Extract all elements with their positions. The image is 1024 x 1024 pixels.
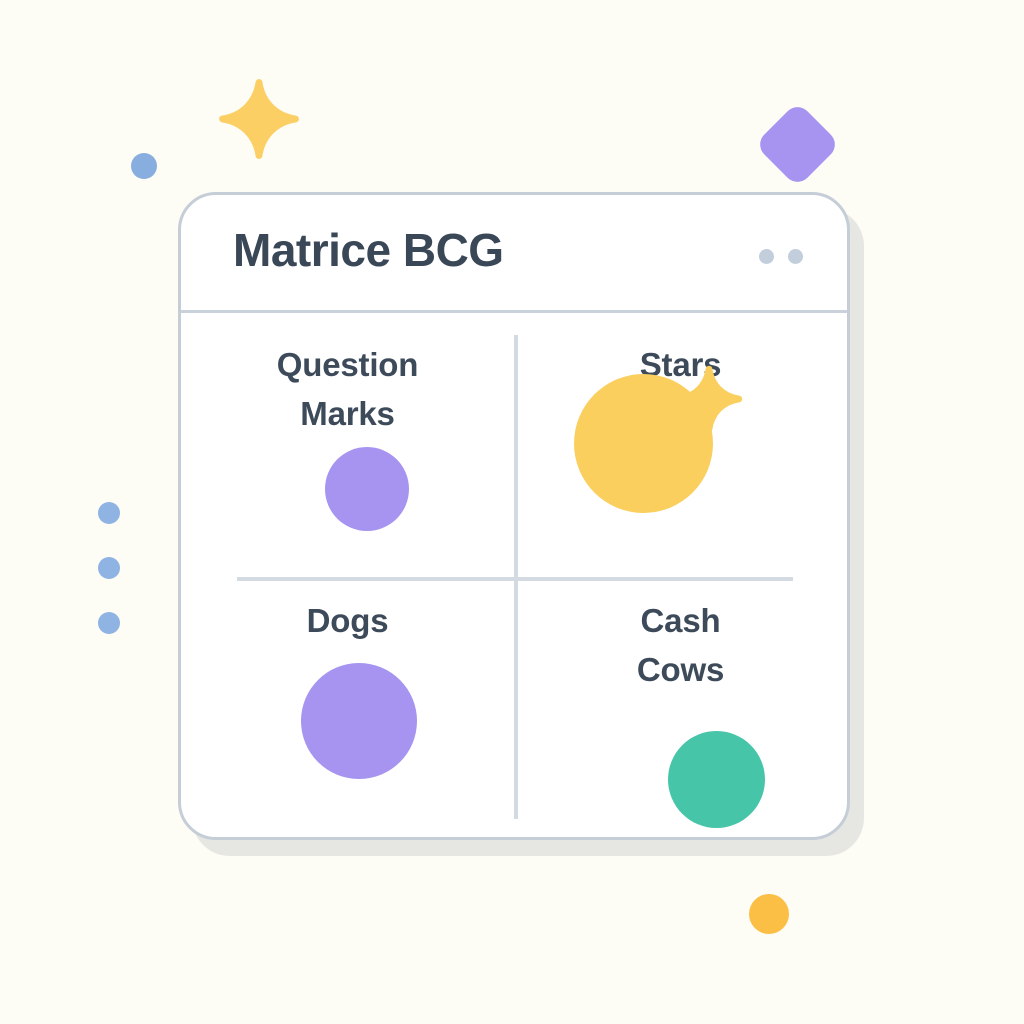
illustration-canvas: Matrice BCG Question Marks Stars xyxy=(0,0,1024,1024)
sparkle-star-icon xyxy=(221,81,297,157)
bcg-matrix-card: Matrice BCG Question Marks Stars xyxy=(178,192,850,840)
bubble-question-marks[interactable] xyxy=(325,447,409,531)
matrix-grid: Question Marks Stars Dogs xyxy=(181,313,847,840)
quadrant-stars[interactable]: Stars xyxy=(514,313,847,577)
header-dots-group xyxy=(759,249,803,264)
page-title: Matrice BCG xyxy=(233,223,504,277)
bubble-area-question-marks xyxy=(181,439,514,577)
amber-dot-bottom-right xyxy=(749,894,789,934)
blue-dot-left-2 xyxy=(98,557,120,579)
header-dot-1[interactable] xyxy=(759,249,774,264)
bubble-cash-cows[interactable] xyxy=(668,731,765,828)
quadrant-question-marks[interactable]: Question Marks xyxy=(181,313,514,577)
card-header: Matrice BCG xyxy=(181,195,847,313)
bubble-area-dogs xyxy=(181,646,514,841)
bubble-area-stars xyxy=(514,390,847,577)
diamond-decoration xyxy=(754,101,840,187)
stars-sparkle-icon xyxy=(678,368,740,430)
bubble-area-cash-cows xyxy=(514,695,847,841)
quadrant-label-question-marks: Question Marks xyxy=(277,341,418,439)
quadrant-label-dogs: Dogs xyxy=(307,597,389,646)
blue-dot-left-3 xyxy=(98,612,120,634)
quadrant-cash-cows[interactable]: Cash Cows xyxy=(514,577,847,841)
header-dot-2[interactable] xyxy=(788,249,803,264)
blue-dot-left-1 xyxy=(98,502,120,524)
blue-dot-upper-left xyxy=(131,153,157,179)
quadrant-label-cash-cows: Cash Cows xyxy=(637,597,724,695)
quadrant-dogs[interactable]: Dogs xyxy=(181,577,514,841)
bubble-dogs[interactable] xyxy=(301,663,417,779)
